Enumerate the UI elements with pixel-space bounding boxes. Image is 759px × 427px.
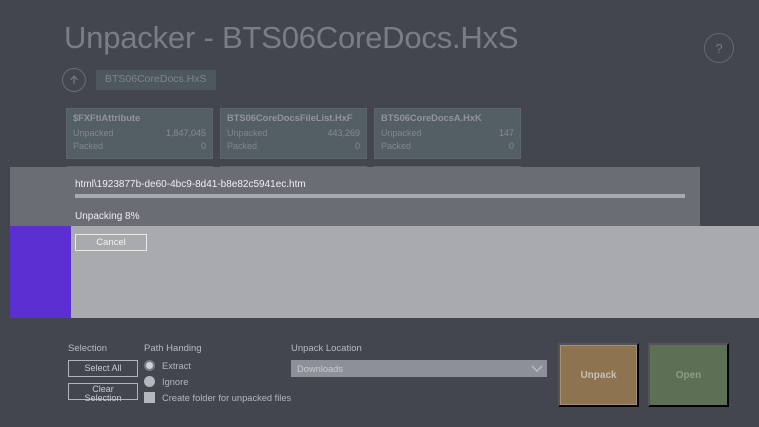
file-progress-bar: [75, 194, 685, 198]
unpack-button[interactable]: Unpack: [558, 343, 639, 407]
radio-extract-indicator: [144, 360, 155, 371]
select-all-button[interactable]: Select All: [68, 360, 138, 377]
unpack-location-value: Downloads: [297, 364, 343, 374]
current-file-path: html\1923877b-de60-4bc9-8d41-b8e82c5941e…: [75, 179, 306, 190]
unpack-status-text: Unpacking 8%: [75, 211, 139, 222]
unpack-progress-dialog: html\1923877b-de60-4bc9-8d41-b8e82c5941e…: [10, 167, 700, 258]
clear-selection-button[interactable]: Clear Selection: [68, 383, 138, 400]
chevron-down-icon: [531, 360, 542, 371]
cancel-button[interactable]: Cancel: [75, 234, 147, 251]
checkbox-create-folder[interactable]: Create folder for unpacked files: [144, 392, 294, 403]
checkbox-create-folder-label: Create folder for unpacked files: [162, 393, 291, 403]
radio-ignore-label: Ignore: [162, 377, 188, 387]
unpacker-window: Unpacker - BTS06CoreDocs.HxS ? BTS06Core…: [0, 0, 759, 427]
bottom-toolbar: Selection Select All Clear Selection Pat…: [0, 335, 759, 427]
open-button[interactable]: Open: [648, 343, 729, 407]
selection-group-label: Selection: [68, 343, 138, 354]
path-handling-group: Path Handing Extract Ignore Create folde…: [144, 343, 294, 408]
radio-ignore[interactable]: Ignore: [144, 376, 294, 387]
overall-progress-fill: [10, 226, 71, 318]
radio-ignore-indicator: [144, 376, 155, 387]
checkbox-create-folder-indicator: [144, 392, 155, 403]
radio-extract[interactable]: Extract: [144, 360, 294, 371]
unpack-location-group: Unpack Location Downloads: [291, 343, 547, 377]
selection-group: Selection Select All Clear Selection: [68, 343, 138, 406]
path-handling-group-label: Path Handing: [144, 343, 294, 354]
unpack-location-label: Unpack Location: [291, 343, 547, 354]
unpack-location-select[interactable]: Downloads: [291, 360, 547, 377]
radio-extract-label: Extract: [162, 361, 191, 371]
